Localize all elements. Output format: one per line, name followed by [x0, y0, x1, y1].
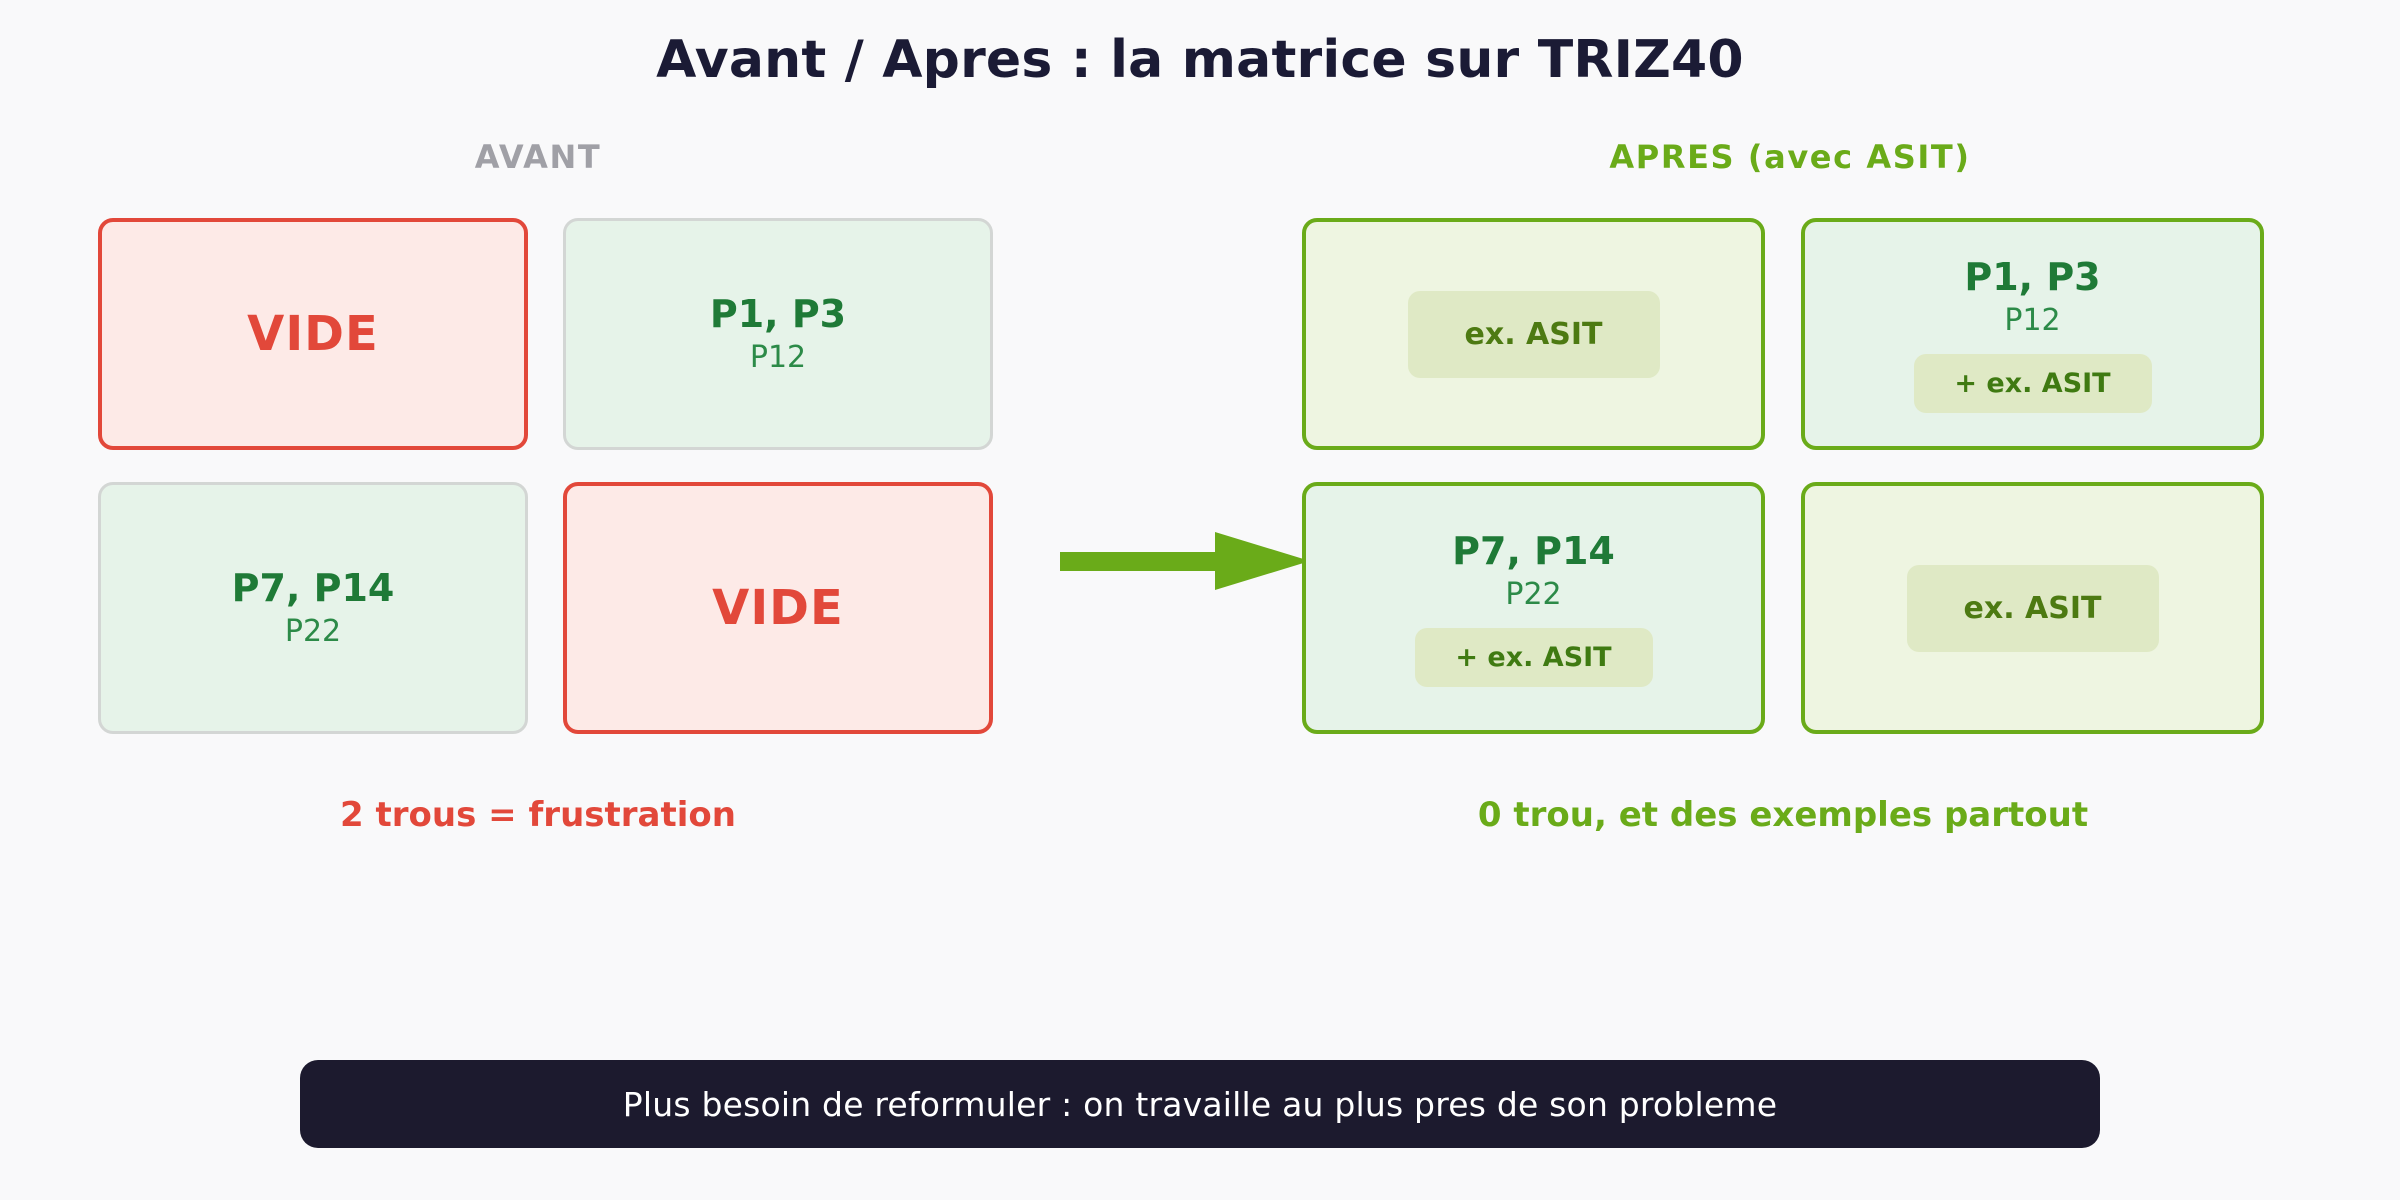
apres-cell-3-principles: P7, P14 P22 + ex. ASIT [1302, 482, 1765, 734]
principle-list: P1, P3 [710, 292, 846, 337]
avant-caption: 2 trous = frustration [98, 795, 978, 835]
column-header-avant: AVANT [98, 138, 978, 176]
apres-cell-4-example: ex. ASIT [1801, 482, 2264, 734]
vide-label: VIDE [712, 580, 844, 636]
principle-list: P7, P14 [1452, 529, 1615, 574]
apres-cell-1-example: ex. ASIT [1302, 218, 1765, 450]
asit-example-chip: + ex. ASIT [1415, 628, 1653, 687]
asit-example-chip: ex. ASIT [1907, 565, 2159, 652]
page-title: Avant / Apres : la matrice sur TRIZ40 [0, 30, 2400, 90]
footer-banner: Plus besoin de reformuler : on travaille… [300, 1060, 2100, 1148]
asit-example-chip: ex. ASIT [1408, 291, 1660, 378]
arrow-right-icon [1060, 532, 1310, 590]
vide-label: VIDE [247, 306, 379, 362]
avant-cell-2-principles: P1, P3 P12 [563, 218, 993, 450]
apres-caption: 0 trou, et des exemples partout [1302, 795, 2264, 835]
avant-matrix-grid: VIDE P1, P3 P12 P7, P14 P22 VIDE [98, 218, 993, 734]
avant-cell-3-principles: P7, P14 P22 [98, 482, 528, 734]
footer-banner-text: Plus besoin de reformuler : on travaille… [623, 1085, 1777, 1124]
principle-sub: P22 [1505, 576, 1561, 614]
principle-sub: P12 [2004, 302, 2060, 340]
apres-cell-2-principles: P1, P3 P12 + ex. ASIT [1801, 218, 2264, 450]
principle-sub: P12 [750, 339, 806, 377]
avant-cell-4-vide: VIDE [563, 482, 993, 734]
asit-example-chip: + ex. ASIT [1914, 354, 2152, 413]
principle-list: P7, P14 [232, 566, 395, 611]
avant-cell-1-vide: VIDE [98, 218, 528, 450]
column-header-apres: APRES (avec ASIT) [1300, 138, 2280, 176]
principle-list: P1, P3 [1964, 255, 2100, 300]
principle-sub: P22 [285, 613, 341, 651]
apres-matrix-grid: ex. ASIT P1, P3 P12 + ex. ASIT P7, P14 P… [1302, 218, 2264, 734]
